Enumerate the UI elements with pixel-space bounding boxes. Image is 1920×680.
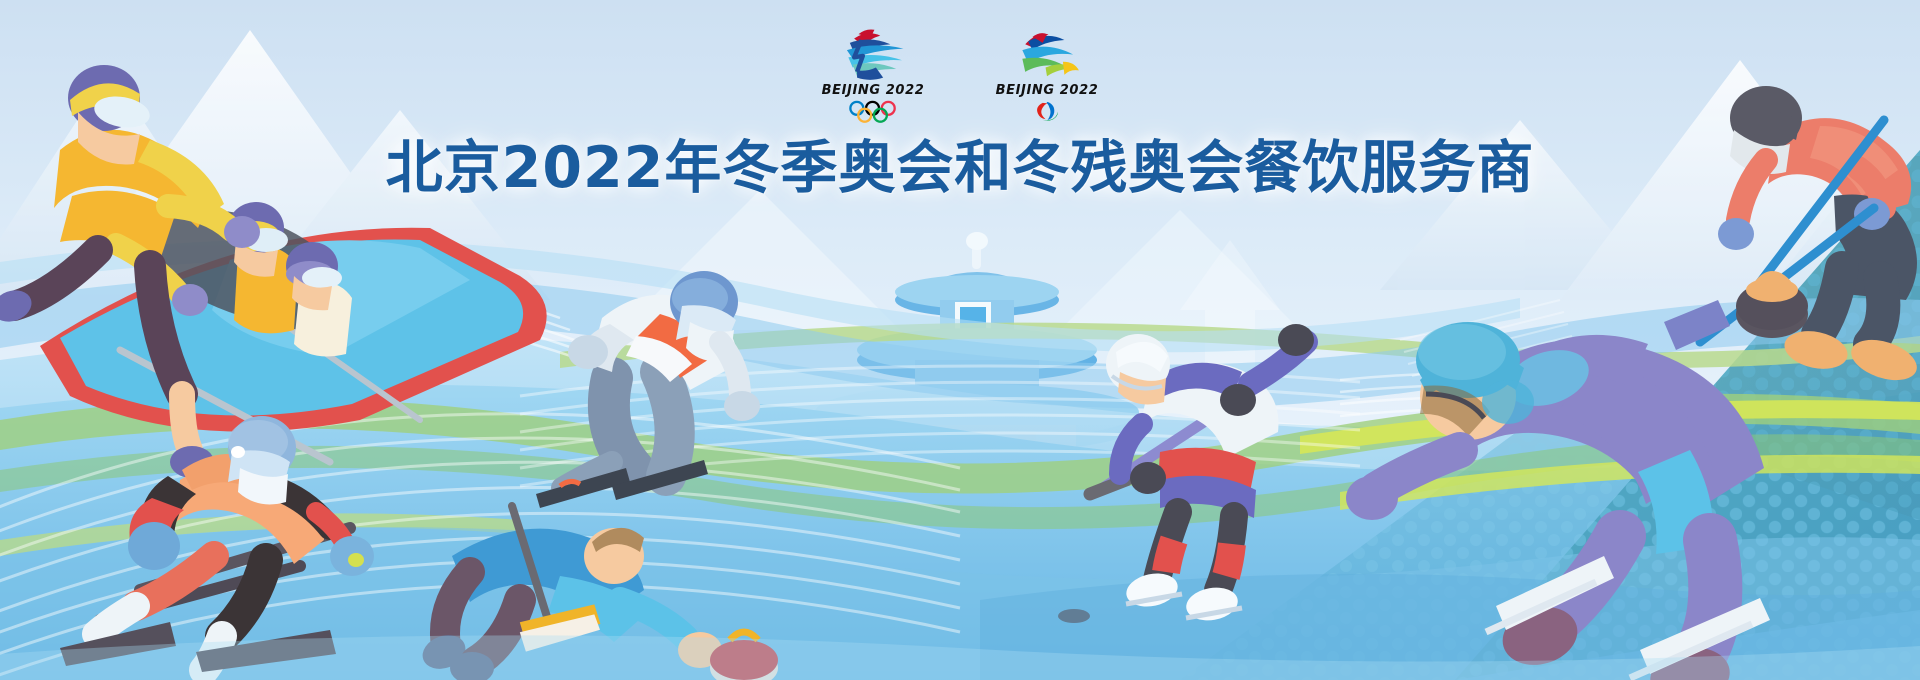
olympic-wordmark: BEIJING 2022 (822, 83, 925, 98)
olympic-emblem-icon (829, 24, 917, 82)
olympic-emblem: BEIJING 2022 (809, 24, 937, 124)
emblem-row: BEIJING 2022 BEIJIN (0, 24, 1920, 124)
agitos-icon (1026, 100, 1068, 124)
paralympic-wordmark: BEIJING 2022 (996, 83, 1099, 98)
olympic-rings-icon (840, 100, 906, 124)
beijing-2022-catering-sponsor-banner: BEIJING 2022 BEIJIN (0, 0, 1920, 680)
paralympic-emblem: BEIJING 2022 (983, 24, 1111, 124)
paralympic-emblem-icon (1003, 24, 1091, 82)
page-title: 北京2022年冬季奥会和冬残奥会餐饮服务商 (0, 122, 1920, 204)
